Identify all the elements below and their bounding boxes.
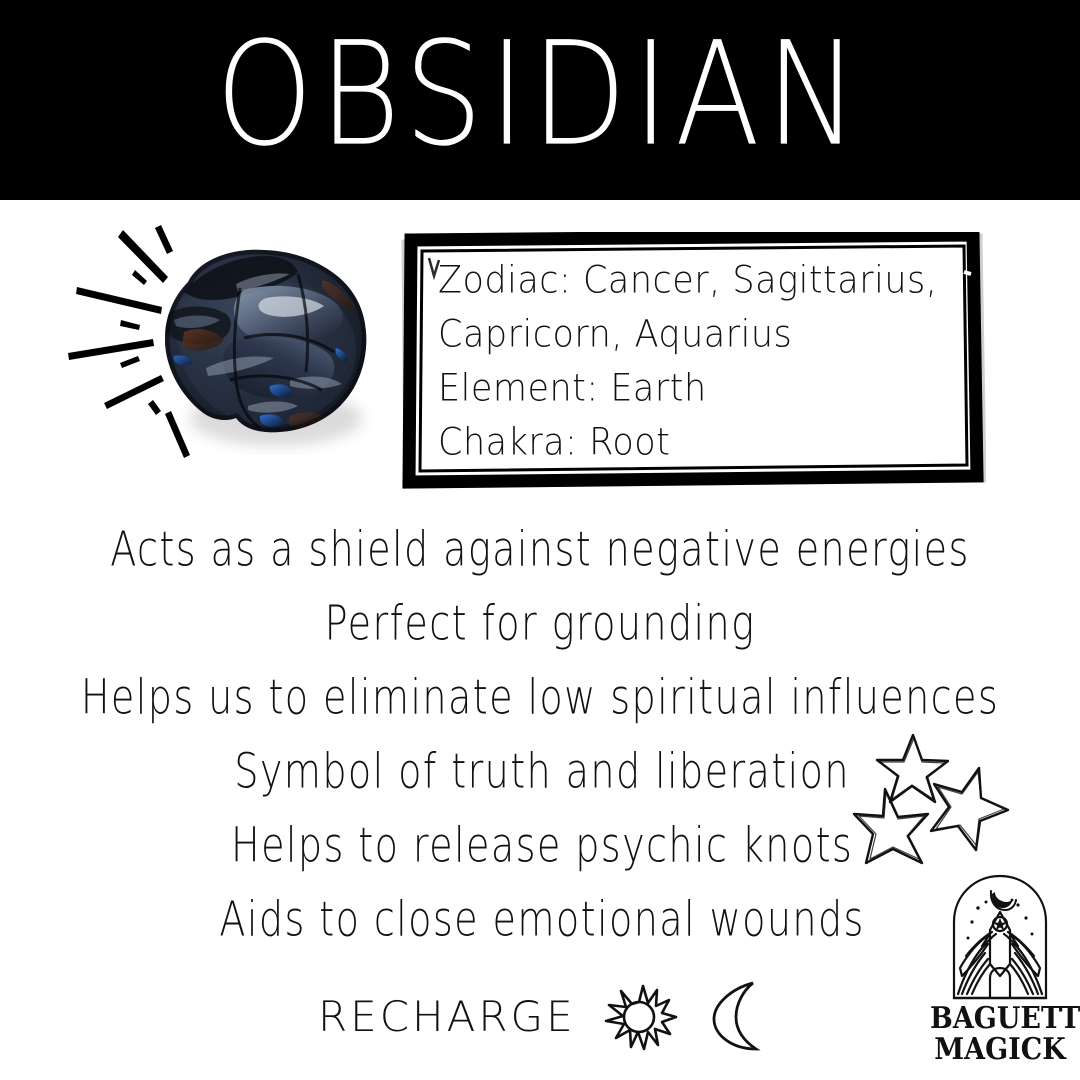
arch-hands-crystal-moon-logo-icon <box>948 872 1052 1000</box>
obsidian-stone-icon <box>140 240 380 455</box>
info-line-chakra: Chakra: Root <box>438 414 962 471</box>
brand-name-line-1: BAGUETTE <box>930 1003 1070 1036</box>
title-band: OBSIDIAN <box>0 0 1080 200</box>
crescent-moon-icon <box>700 977 768 1055</box>
crystal-info-card: OBSIDIAN <box>0 0 1080 1080</box>
brand-logo: BAGUETTE MAGICK <box>930 872 1070 1072</box>
sun-icon <box>600 977 678 1055</box>
info-line-zodiac-2: Capricorn, Aquarius <box>438 306 962 363</box>
recharge-label: RECHARGE <box>318 992 576 1041</box>
stone-illustration <box>35 215 385 500</box>
recharge-row: RECHARGE <box>318 985 768 1047</box>
attributes-lines: Zodiac: Cancer, Sagittarius, Capricorn, … <box>438 254 962 468</box>
attributes-box: Zodiac: Cancer, Sagittarius, Capricorn, … <box>398 232 986 490</box>
page-title: OBSIDIAN <box>16 0 1064 212</box>
three-stars-icon <box>852 732 1030 866</box>
info-line-zodiac-1: Zodiac: Cancer, Sagittarius, <box>438 252 962 309</box>
brand-wordmark: BAGUETTE MAGICK <box>930 1004 1070 1066</box>
property-line: Aids to close emotional wounds <box>40 875 1080 962</box>
info-line-element: Element: Earth <box>438 360 962 417</box>
brand-name-line-2: MAGICK <box>930 1032 1070 1067</box>
